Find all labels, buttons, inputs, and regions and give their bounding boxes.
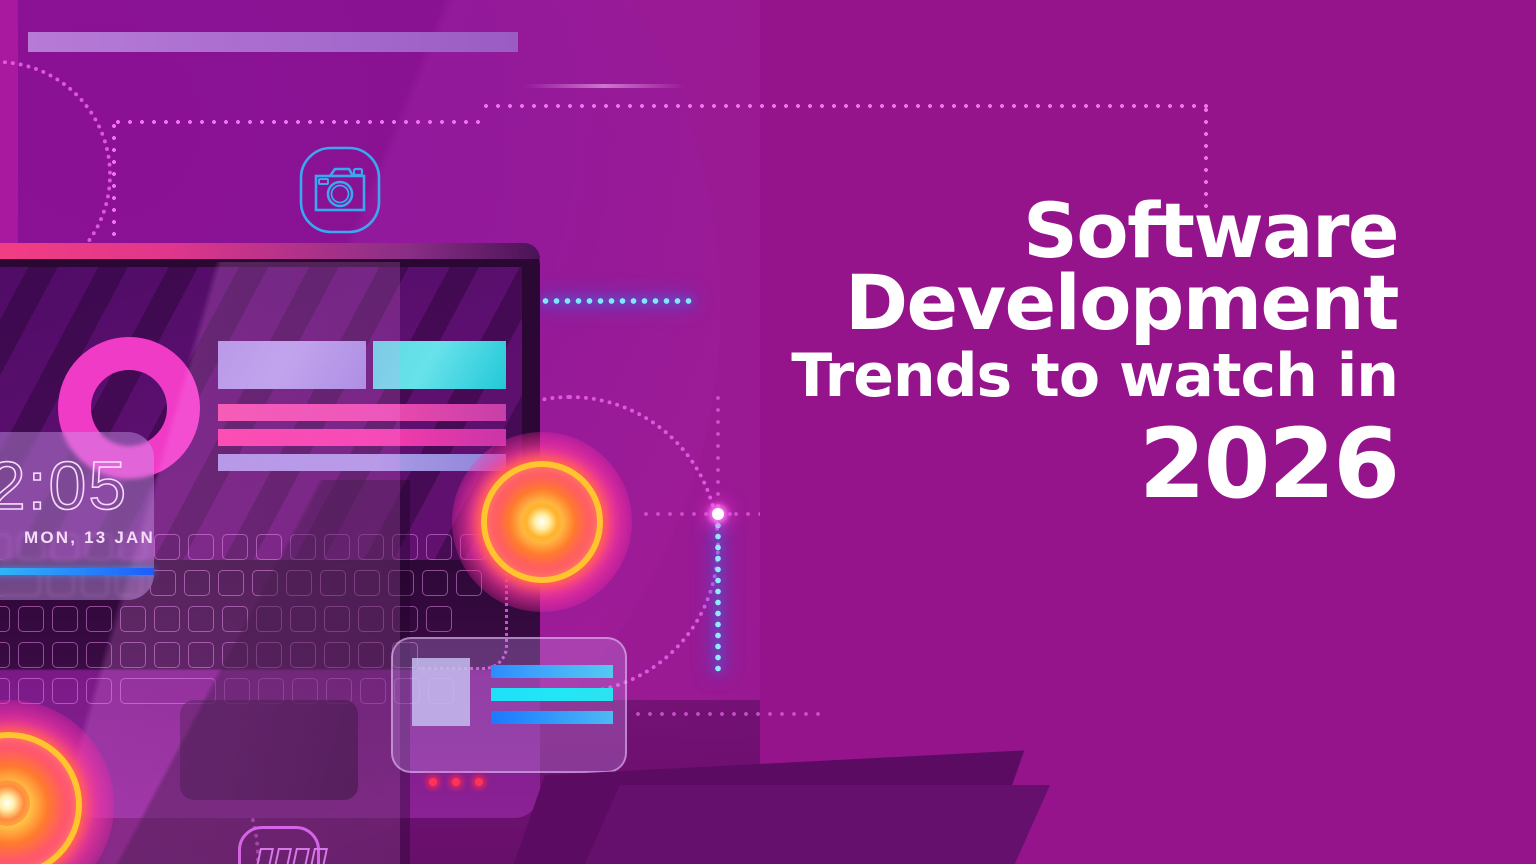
keyboard-key	[154, 534, 180, 560]
keyboard-key	[286, 570, 312, 596]
keyboard-key	[392, 606, 418, 632]
screen-tile-cyan	[373, 341, 506, 389]
keyboard-key	[256, 534, 282, 560]
keyboard-key	[120, 606, 146, 632]
screen-bar-pink	[218, 404, 506, 421]
camera-icon	[298, 145, 382, 235]
headline-line-2: Development	[678, 266, 1398, 340]
keyboard-key	[0, 606, 10, 632]
card-indicator-dot	[452, 778, 460, 786]
keyboard-key	[154, 606, 180, 632]
laptop-lid-top-edge	[0, 243, 540, 259]
keyboard-key	[18, 642, 44, 668]
floor-shadow-right	[544, 785, 1050, 864]
keyboard-key	[388, 570, 414, 596]
keyboard-key	[52, 642, 78, 668]
keyboard-key	[222, 534, 248, 560]
keyboard-key	[252, 570, 278, 596]
clock-time: 12:05	[0, 452, 128, 520]
headline-line-3: Trends to watch in	[678, 340, 1398, 413]
keyboard-key	[154, 642, 180, 668]
keyboard-key	[52, 678, 78, 704]
screen-tile-periwinkle	[218, 341, 366, 389]
card-indicator-dot	[429, 778, 437, 786]
screen-bar-magenta	[218, 429, 506, 446]
keyboard-key	[324, 606, 350, 632]
screen-bar-periwinkle	[218, 454, 506, 471]
headline: Software Development Trends to watch in …	[678, 196, 1398, 515]
keyboard-key	[120, 642, 146, 668]
headline-line-4: 2026	[678, 414, 1398, 516]
circuit-line-upper-left	[112, 120, 488, 124]
keyboard-key	[358, 606, 384, 632]
keyboard-key	[184, 570, 210, 596]
glow-circuit-line-node-down	[714, 520, 722, 675]
headline-line-1: Software	[678, 196, 1398, 266]
keyboard-key	[188, 642, 214, 668]
card-bar	[491, 688, 613, 701]
keyboard-key	[86, 678, 112, 704]
keyboard-key	[426, 534, 452, 560]
keyboard-key	[324, 534, 350, 560]
keyboard-key	[86, 642, 112, 668]
keyboard-key	[360, 678, 386, 704]
keyboard-key	[324, 642, 350, 668]
keyboard-key	[188, 534, 214, 560]
screen-topbar	[28, 32, 518, 52]
keyboard-key	[256, 606, 282, 632]
circle-top-highlight	[524, 84, 684, 88]
keyboard-key	[188, 606, 214, 632]
card-indicator-dot	[475, 778, 483, 786]
card-bar	[491, 711, 613, 724]
keyboard-key	[290, 534, 316, 560]
card-thumbnail	[412, 658, 470, 726]
circuit-line-top	[480, 104, 1208, 108]
keyboard-key	[290, 642, 316, 668]
circuit-line-lower	[632, 712, 822, 716]
keyboard-key	[358, 642, 384, 668]
keyboard-key	[222, 606, 248, 632]
keyboard-key	[256, 642, 282, 668]
card-bar	[491, 665, 613, 678]
keyboard-key	[218, 570, 244, 596]
keyboard-key	[354, 570, 380, 596]
promo-banner: 12:05 MON, 13 JAN Software Development T…	[0, 0, 1536, 864]
keyboard-key	[320, 570, 346, 596]
keyboard-key	[222, 642, 248, 668]
clock-date: MON, 13 JAN	[24, 528, 155, 548]
keyboard-key	[52, 606, 78, 632]
keyboard-key	[290, 606, 316, 632]
glow-orb-right-core	[522, 502, 562, 542]
keyboard-key	[358, 534, 384, 560]
keyboard-key	[18, 606, 44, 632]
glow-circuit-line-upper	[540, 297, 692, 305]
keyboard-key	[86, 606, 112, 632]
keyboard-key	[0, 642, 10, 668]
clock-accent-bar	[0, 568, 154, 575]
laptop-trackpad	[180, 700, 358, 800]
keyboard-key	[392, 534, 418, 560]
